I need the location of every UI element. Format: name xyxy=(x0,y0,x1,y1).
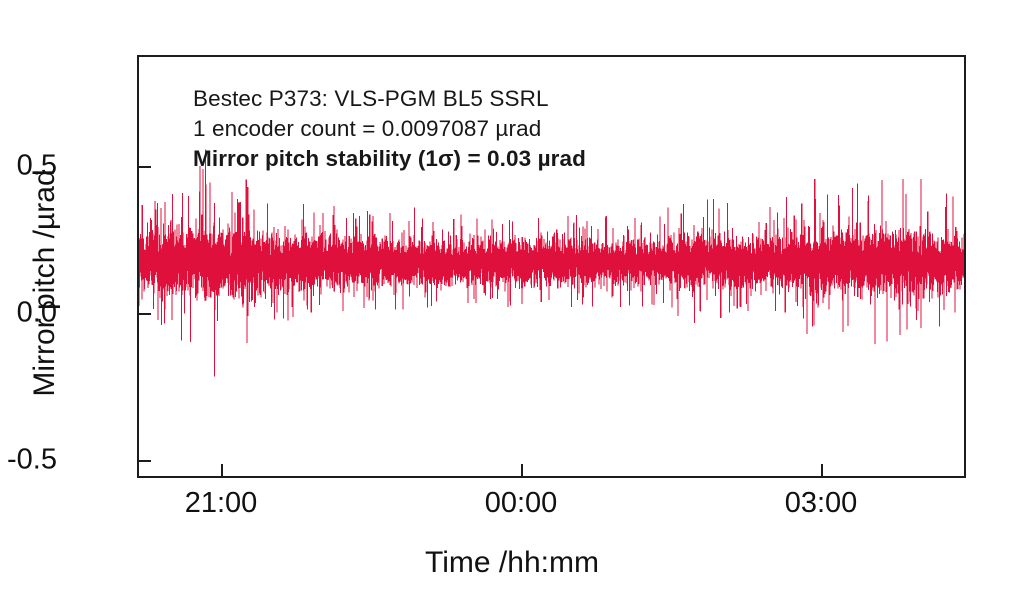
xtick-label-0: 21:00 xyxy=(121,487,321,520)
ytick-mark-2 xyxy=(137,460,151,462)
y-axis-title: Mirror pitch /µrad xyxy=(28,133,62,433)
ytick-mark-1 xyxy=(137,313,151,315)
annotation-line-2: 1 encoder count = 0.0097087 µrad xyxy=(193,114,753,144)
xtick-label-2: 03:00 xyxy=(721,487,921,520)
ytick-label-2: -0.5 xyxy=(0,444,57,477)
annotation-line-3: Mirror pitch stability (1σ) = 0.03 µrad xyxy=(193,144,753,174)
xtick-mark-1 xyxy=(521,464,523,478)
xtick-mark-0 xyxy=(221,464,223,478)
annotation-line-1: Bestec P373: VLS-PGM BL5 SSRL xyxy=(193,84,753,114)
chart-figure: 0.5 0.0 -0.5 21:00 00:00 03:00 Bestec P3… xyxy=(0,0,1024,589)
ytick-mark-0 xyxy=(137,166,151,168)
x-axis-title: Time /hh:mm xyxy=(0,546,1024,580)
plot-annotation: Bestec P373: VLS-PGM BL5 SSRL 1 encoder … xyxy=(193,84,753,174)
xtick-label-1: 00:00 xyxy=(421,487,621,520)
xtick-mark-2 xyxy=(821,464,823,478)
